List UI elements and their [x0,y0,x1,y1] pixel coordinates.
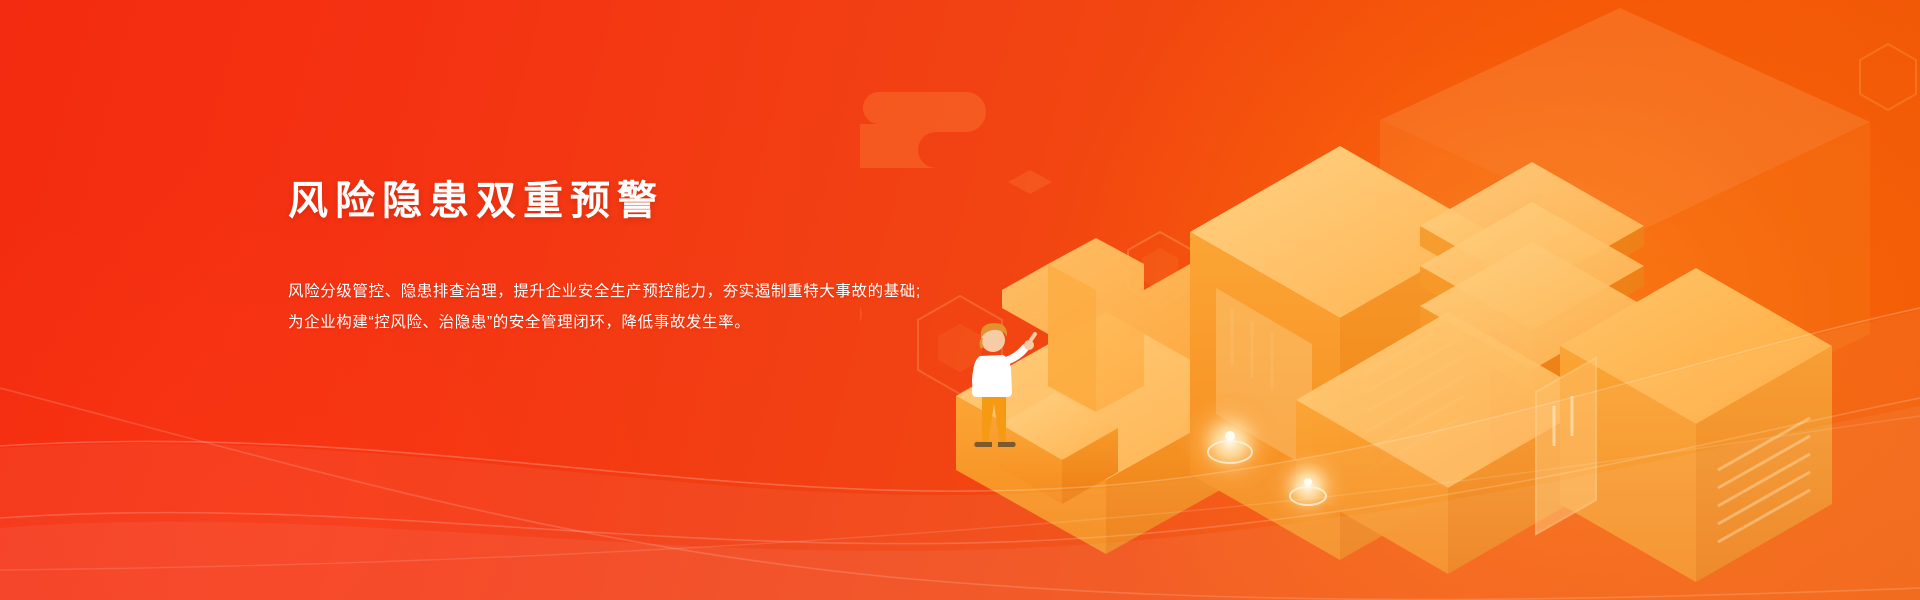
wave-line-4 [0,416,1920,570]
isometric-tower-right [1560,268,1832,582]
isometric-cross-slab [1002,238,1238,412]
tower-panel [1216,288,1312,470]
isometric-block-left [956,312,1256,554]
isometric-block-center-bottom [1296,312,1600,574]
wireframe-cube [1008,170,1052,194]
isometric-slab-stack [1420,162,1644,390]
hero-banner: 风险隐患双重预警 风险分级管控、隐患排查治理，提升企业安全生产预控能力，夯实遏制… [0,0,1920,600]
wave-line-2 [0,398,1920,544]
subtitle-line-2: 为企业构建“控风险、治隐患”的安全管理闭环，降低事故发生率。 [288,307,988,338]
person-pointing-figure [972,323,1035,447]
wireframe-hexagon [1860,44,1916,110]
wave-fill-lower [0,406,1920,600]
glow-dot [1266,444,1350,528]
subtitle-line-1: 风险分级管控、隐患排查治理，提升企业安全生产预控能力，夯实遏制重特大事故的基础; [288,276,988,307]
isometric-small-box [1000,392,1118,504]
isometric-card-panel [1536,358,1596,534]
wave-line-3 [0,388,1920,600]
wireframe-hexagon [1128,232,1192,306]
tower-rack-lines [1366,316,1464,472]
hero-subtitle: 风险分级管控、隐患排查治理，提升企业安全生产预控能力，夯实遏制重特大事故的基础;… [288,276,988,338]
isometric-data-center-illustration [860,0,1920,600]
hero-copy: 风险隐患双重预警 风险分级管控、隐患排查治理，提升企业安全生产预控能力，夯实遏制… [288,178,988,338]
glow-dot [1178,390,1282,494]
isometric-tower-center [1190,146,1490,560]
wave-fill-upper [0,310,1920,600]
page-title: 风险隐患双重预警 [288,178,988,224]
background-glow-right [1040,0,1920,600]
cloud-shape [860,92,986,168]
tower-rack-lines [1718,418,1810,542]
background-isometric-slab [1380,8,1870,448]
